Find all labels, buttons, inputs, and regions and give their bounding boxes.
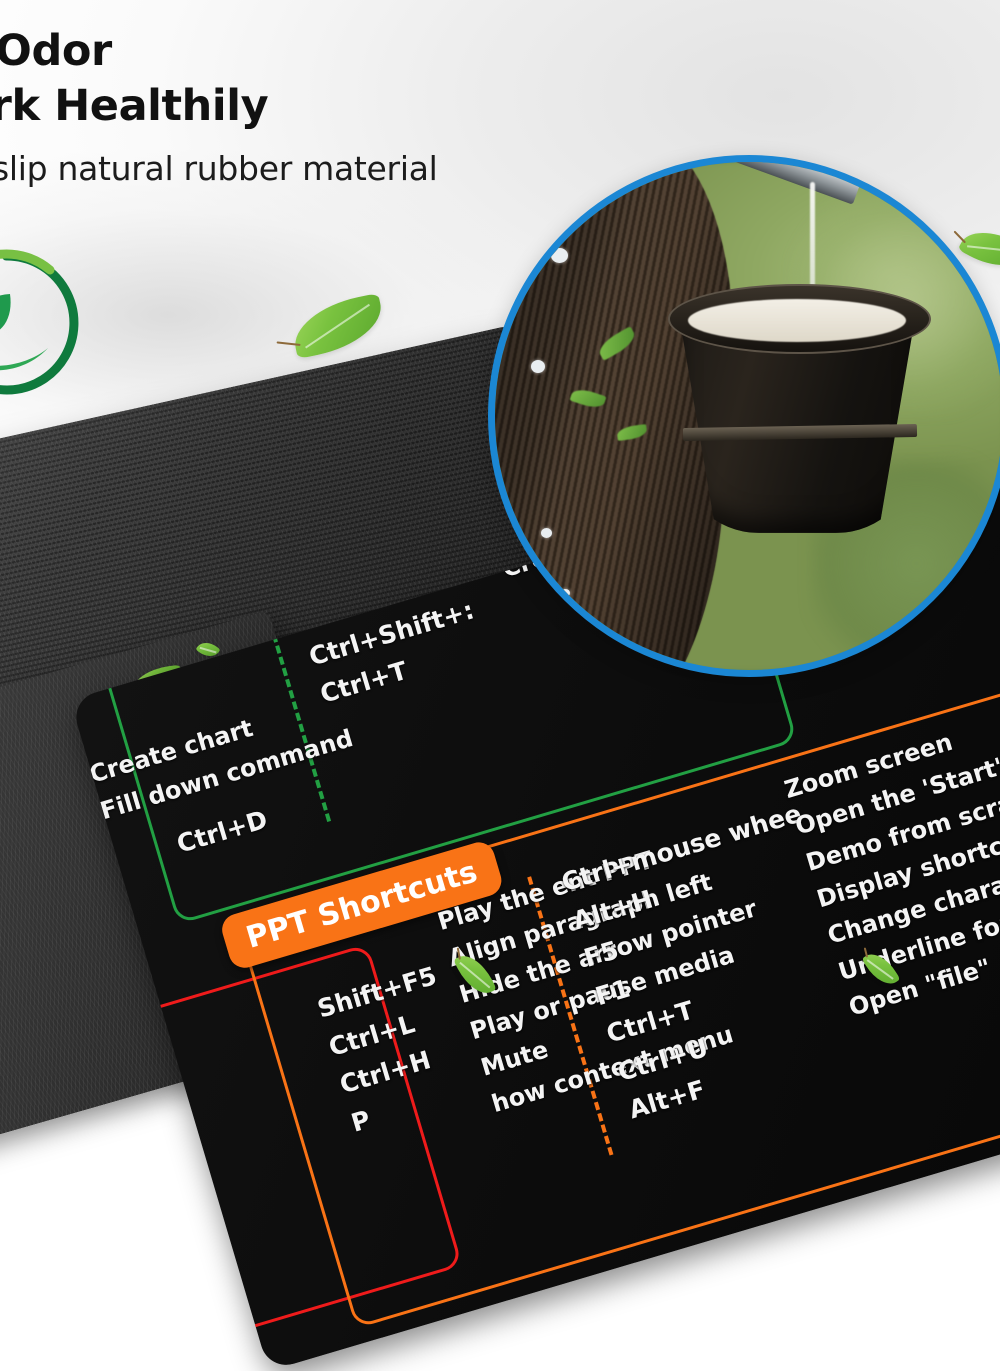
latex-tapping-scene xyxy=(495,162,1000,670)
sap-droplet xyxy=(541,528,552,538)
latex-stream xyxy=(810,182,815,299)
headline-line-1: No Odor xyxy=(0,24,676,79)
sap-droplet xyxy=(531,360,545,373)
rubber-tree-latex-photo xyxy=(488,155,1000,677)
headline-line-2: Work Healthily xyxy=(0,79,676,134)
sap-droplet xyxy=(561,589,570,597)
eco-leaf-icon xyxy=(0,248,82,398)
